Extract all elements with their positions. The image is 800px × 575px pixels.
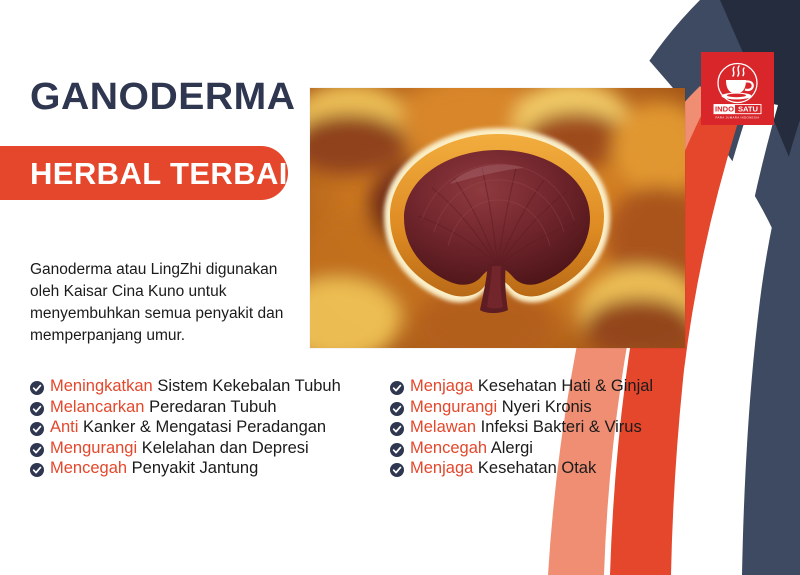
- benefit-item: Mencegah Penyakit Jantung: [30, 460, 390, 477]
- benefit-text: Mengurangi Nyeri Kronis: [410, 399, 592, 416]
- benefit-rest: Peredaran Tubuh: [149, 398, 277, 416]
- ganoderma-photo: [310, 88, 685, 348]
- benefit-highlight: Meningkatkan: [50, 377, 153, 395]
- logo-brand-part2: SATU: [738, 105, 759, 114]
- benefit-rest: Kelelahan dan Depresi: [142, 439, 309, 457]
- poster-canvas: GANODERMA HERBAL TERBAIK Ganoderma atau …: [0, 0, 800, 575]
- benefit-text: Mengurangi Kelelahan dan Depresi: [50, 440, 309, 457]
- benefit-highlight: Menjaga: [410, 377, 473, 395]
- benefit-text: Melancarkan Peredaran Tubuh: [50, 399, 277, 416]
- subtitle-pill: HERBAL TERBAIK: [0, 146, 288, 200]
- check-circle-icon: [390, 463, 404, 477]
- benefit-text: Melawan Infeksi Bakteri & Virus: [410, 419, 642, 436]
- benefit-item: Meningkatkan Sistem Kekebalan Tubuh: [30, 378, 390, 395]
- headline-block: GANODERMA HERBAL TERBAIK: [0, 78, 330, 116]
- benefit-item: Anti Kanker & Mengatasi Peradangan: [30, 419, 390, 436]
- check-circle-icon: [30, 402, 44, 416]
- check-circle-icon: [390, 402, 404, 416]
- benefits-column-left: Meningkatkan Sistem Kekebalan TubuhMelan…: [30, 378, 390, 508]
- indosatu-logo[interactable]: INDO SATU PARA JUMARA INDONESIA: [701, 52, 774, 125]
- description-paragraph: Ganoderma atau LingZhi digunakan oleh Ka…: [30, 259, 305, 347]
- benefits-column-right: Menjaga Kesehatan Hati & GinjalMengurang…: [390, 378, 750, 508]
- benefit-highlight: Melawan: [410, 418, 476, 436]
- indosatu-logo-graphic: INDO SATU PARA JUMARA INDONESIA: [701, 52, 774, 125]
- benefit-text: Mencegah Alergi: [410, 440, 533, 457]
- ganoderma-photo-graphic: [310, 88, 685, 348]
- benefit-item: Menjaga Kesehatan Hati & Ginjal: [390, 378, 750, 395]
- benefit-item: Mengurangi Kelelahan dan Depresi: [30, 440, 390, 457]
- benefits-section: Meningkatkan Sistem Kekebalan TubuhMelan…: [0, 378, 800, 508]
- check-circle-icon: [390, 381, 404, 395]
- benefit-highlight: Mencegah: [50, 459, 127, 477]
- benefit-text: Anti Kanker & Mengatasi Peradangan: [50, 419, 326, 436]
- benefit-highlight: Anti: [50, 418, 78, 436]
- benefit-highlight: Mengurangi: [50, 439, 137, 457]
- subtitle-text: HERBAL TERBAIK: [30, 158, 311, 189]
- benefit-rest: Kesehatan Otak: [478, 459, 596, 477]
- benefit-rest: Penyakit Jantung: [132, 459, 259, 477]
- check-circle-icon: [30, 463, 44, 477]
- benefit-rest: Nyeri Kronis: [502, 398, 592, 416]
- check-circle-icon: [390, 422, 404, 436]
- check-circle-icon: [30, 422, 44, 436]
- logo-tagline: PARA JUMARA INDONESIA: [715, 116, 759, 120]
- check-circle-icon: [30, 443, 44, 457]
- benefit-text: Mencegah Penyakit Jantung: [50, 460, 258, 477]
- benefit-highlight: Mencegah: [410, 439, 487, 457]
- benefit-rest: Kanker & Mengatasi Peradangan: [83, 418, 326, 436]
- benefit-item: Mengurangi Nyeri Kronis: [390, 399, 750, 416]
- benefit-item: Mencegah Alergi: [390, 440, 750, 457]
- benefit-item: Menjaga Kesehatan Otak: [390, 460, 750, 477]
- benefit-rest: Alergi: [491, 439, 533, 457]
- benefit-text: Menjaga Kesehatan Hati & Ginjal: [410, 378, 653, 395]
- benefit-item: Melancarkan Peredaran Tubuh: [30, 399, 390, 416]
- benefit-rest: Kesehatan Hati & Ginjal: [478, 377, 653, 395]
- benefit-rest: Sistem Kekebalan Tubuh: [157, 377, 340, 395]
- benefit-item: Melawan Infeksi Bakteri & Virus: [390, 419, 750, 436]
- benefit-highlight: Menjaga: [410, 459, 473, 477]
- benefit-text: Meningkatkan Sistem Kekebalan Tubuh: [50, 378, 341, 395]
- page-title: GANODERMA: [30, 78, 339, 116]
- benefit-text: Menjaga Kesehatan Otak: [410, 460, 596, 477]
- logo-brand-part1: INDO: [715, 105, 734, 114]
- check-circle-icon: [390, 443, 404, 457]
- benefit-highlight: Mengurangi: [410, 398, 497, 416]
- benefit-highlight: Melancarkan: [50, 398, 144, 416]
- check-circle-icon: [30, 381, 44, 395]
- logo-wordmark: INDO SATU PARA JUMARA INDONESIA: [714, 105, 761, 120]
- benefit-rest: Infeksi Bakteri & Virus: [481, 418, 642, 436]
